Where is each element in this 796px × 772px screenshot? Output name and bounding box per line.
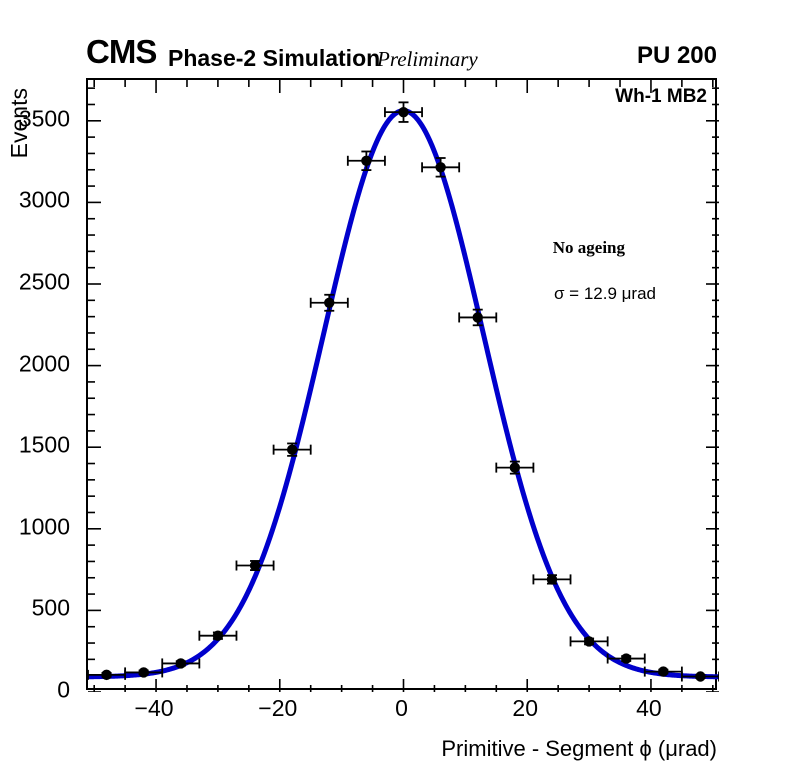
x-tick-label: 0 <box>395 695 408 722</box>
y-axis-tick-labels: 0500100015002000250030003500 <box>0 78 78 690</box>
plot-area <box>88 80 719 692</box>
y-tick-label: 3000 <box>19 187 70 214</box>
chart-canvas: CMS Phase-2 Simulation Preliminary PU 20… <box>0 0 796 772</box>
data-marker <box>547 574 557 584</box>
data-marker <box>250 560 260 570</box>
data-marker <box>510 462 520 472</box>
resolution-label: σ = 12.9 μrad <box>554 284 656 304</box>
data-marker <box>138 667 148 677</box>
data-marker <box>473 312 483 322</box>
data-points <box>88 102 719 681</box>
cms-header: CMS Phase-2 Simulation Preliminary PU 20… <box>0 40 796 70</box>
y-tick-label: 500 <box>32 595 70 622</box>
data-marker <box>287 444 297 454</box>
x-axis-tick-labels: −40−2002040 <box>86 695 717 725</box>
y-tick-label: 3500 <box>19 105 70 132</box>
y-tick-label: 2000 <box>19 350 70 377</box>
chamber-label: Wh-1 MB2 <box>615 86 707 108</box>
x-tick-label: −20 <box>258 695 297 722</box>
data-marker <box>584 636 594 646</box>
preliminary-label: Preliminary <box>377 46 478 72</box>
data-marker <box>435 162 445 172</box>
y-tick-label: 1000 <box>19 513 70 540</box>
y-tick-label: 1500 <box>19 432 70 459</box>
x-axis-title: Primitive - Segment ϕ (μrad) <box>441 736 717 762</box>
data-marker <box>176 658 186 668</box>
data-marker <box>695 671 705 681</box>
x-tick-label: 40 <box>636 695 662 722</box>
simulation-label: Phase-2 Simulation <box>168 44 380 72</box>
data-marker <box>658 666 668 676</box>
data-marker <box>398 107 408 117</box>
fit-curve <box>88 111 719 677</box>
data-marker <box>101 670 111 680</box>
x-tick-label: −40 <box>135 695 174 722</box>
x-tick-label: 20 <box>512 695 538 722</box>
ageing-label: No ageing <box>553 238 625 258</box>
cms-logo-text: CMS <box>86 37 156 67</box>
data-marker <box>324 298 334 308</box>
data-marker <box>213 630 223 640</box>
y-tick-label: 0 <box>57 677 70 704</box>
y-tick-label: 2500 <box>19 269 70 296</box>
data-marker <box>621 653 631 663</box>
data-marker <box>361 156 371 166</box>
plot-frame: Wh-1 MB2 No ageing σ = 12.9 μrad <box>86 78 717 690</box>
pileup-label: PU 200 <box>637 42 717 70</box>
